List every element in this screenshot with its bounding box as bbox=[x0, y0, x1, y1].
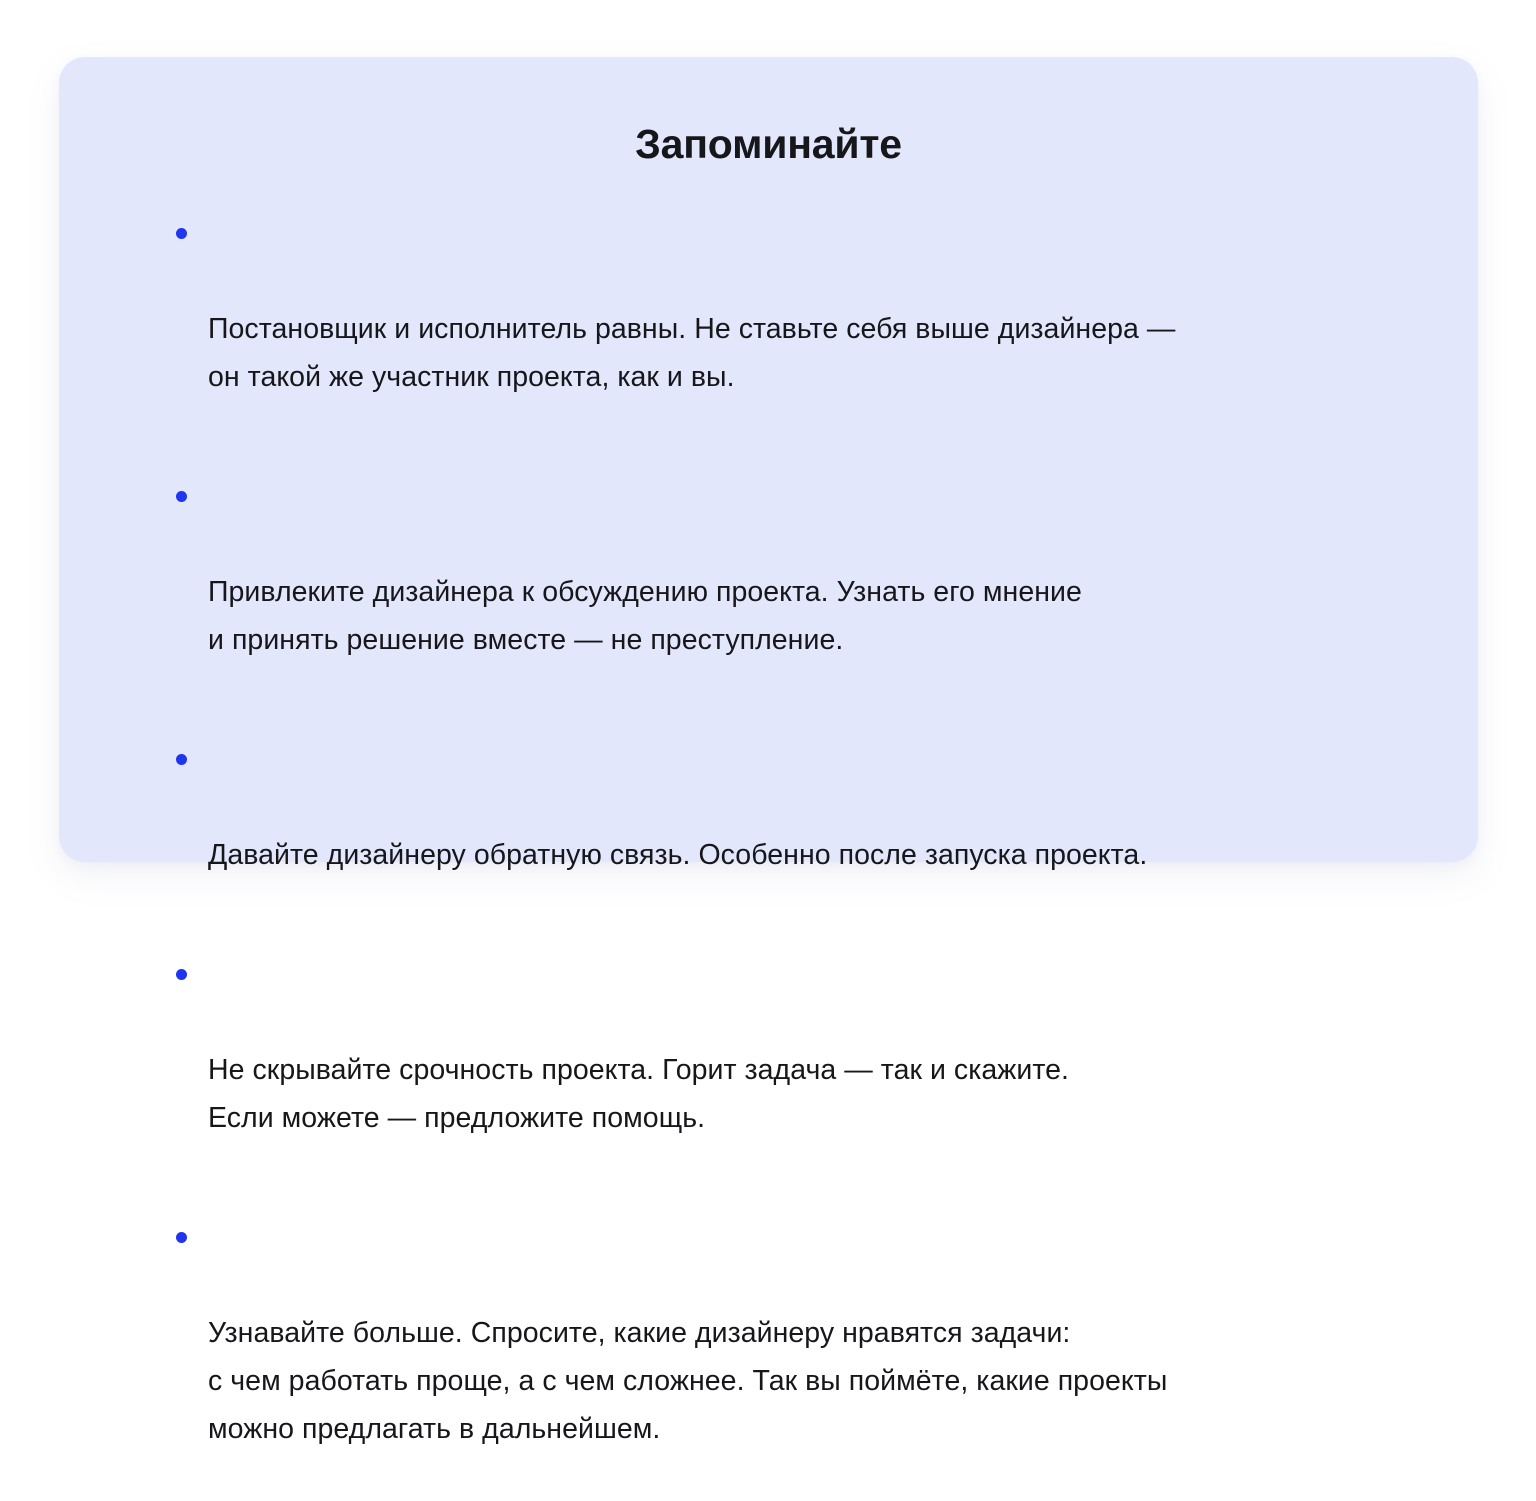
bullet-dot-icon bbox=[176, 491, 187, 502]
list-item: Узнавайте больше. Спросите, какие дизайн… bbox=[171, 1213, 1430, 1501]
page-title: Запоминайте bbox=[59, 124, 1478, 165]
list-item-text: Давайте дизайнеру обратную связь. Особен… bbox=[208, 831, 1430, 879]
bullet-dot-icon bbox=[176, 969, 187, 980]
list-item-text: Узнавайте больше. Спросите, какие дизайн… bbox=[208, 1309, 1430, 1453]
list-item: Постановщик и исполнитель равны. Не став… bbox=[171, 209, 1430, 449]
list-item: Привлеките дизайнера к обсуждению проект… bbox=[171, 472, 1430, 712]
list-item-text: Не скрывайте срочность проекта. Горит за… bbox=[208, 1046, 1430, 1142]
list-item-text: Постановщик и исполнитель равны. Не став… bbox=[208, 305, 1430, 401]
tips-card: Запоминайте Постановщик и исполнитель ра… bbox=[59, 57, 1478, 862]
list-item: Давайте дизайнеру обратную связь. Особен… bbox=[171, 735, 1430, 927]
bullet-dot-icon bbox=[176, 228, 187, 239]
bullet-dot-icon bbox=[176, 754, 187, 765]
tips-bullet-list: Постановщик и исполнитель равны. Не став… bbox=[171, 209, 1430, 1501]
list-item-text: Привлеките дизайнера к обсуждению проект… bbox=[208, 568, 1430, 664]
page-root: Запоминайте Постановщик и исполнитель ра… bbox=[0, 0, 1536, 943]
list-item: Не скрывайте срочность проекта. Горит за… bbox=[171, 950, 1430, 1190]
bullet-dot-icon bbox=[176, 1232, 187, 1243]
